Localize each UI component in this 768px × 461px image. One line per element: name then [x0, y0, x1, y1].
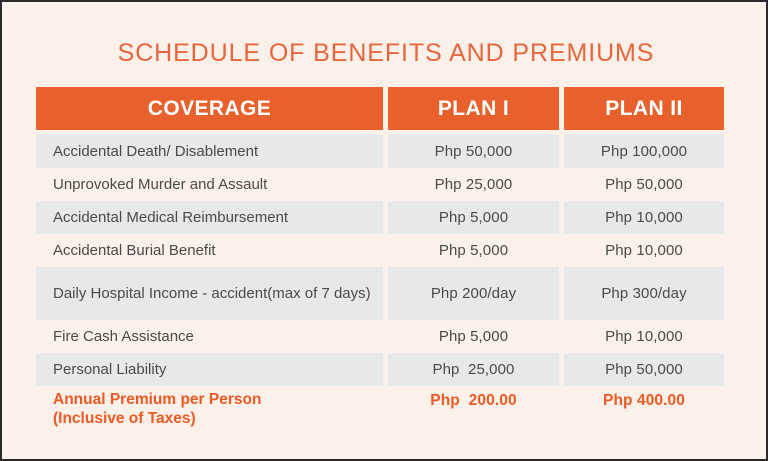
table-row: Fire Cash Assistance Php 5,000 Php 10,00…: [36, 320, 724, 353]
cell-plan-2: Php 10,000: [564, 234, 724, 267]
cell-coverage-line-2: (max of 7 days): [267, 284, 370, 303]
cell-coverage: Accidental Medical Reimbursement: [36, 201, 383, 234]
table-row: Accidental Burial Benefit Php 5,000 Php …: [36, 234, 724, 267]
cell-plan-1: Php 5,000: [388, 320, 559, 353]
table-row: Accidental Medical Reimbursement Php 5,0…: [36, 201, 724, 234]
table-row: Daily Hospital Income - accident (max of…: [36, 267, 724, 320]
cell-plan-2: Php 10,000: [564, 320, 724, 353]
cell-plan-1: Php 25,000: [388, 353, 559, 386]
benefits-schedule-page: SCHEDULE OF BENEFITS AND PREMIUMS COVERA…: [0, 0, 768, 461]
cell-plan-2: Php 300/day: [564, 267, 724, 320]
premium-label-line-1: Annual Premium per Person: [53, 390, 261, 409]
column-header-plan-2: PLAN II: [564, 87, 724, 130]
cell-coverage: Personal Liability: [36, 353, 383, 386]
column-header-coverage: COVERAGE: [36, 87, 383, 130]
cell-premium-plan-1: Php 200.00: [388, 386, 559, 434]
cell-coverage: Accidental Death/ Disablement: [36, 135, 383, 168]
column-header-plan-1: PLAN I: [388, 87, 559, 130]
page-title: SCHEDULE OF BENEFITS AND PREMIUMS: [2, 38, 768, 68]
premium-value-plan-1: Php 200.00: [430, 392, 516, 410]
table-row: Unprovoked Murder and Assault Php 25,000…: [36, 168, 724, 201]
cell-plan-1: Php 25,000: [388, 168, 559, 201]
cell-coverage: Unprovoked Murder and Assault: [36, 168, 383, 201]
cell-plan-1: Php 5,000: [388, 201, 559, 234]
cell-plan-2: Php 10,000: [564, 201, 724, 234]
premium-label-line-2: (Inclusive of Taxes): [53, 409, 261, 428]
cell-premium-plan-2: Php 400.00: [564, 386, 724, 434]
benefits-table: COVERAGE PLAN I PLAN II Accidental Death…: [36, 87, 724, 434]
cell-plan-2: Php 100,000: [564, 135, 724, 168]
table-header-row: COVERAGE PLAN I PLAN II: [36, 87, 724, 130]
table-row: Accidental Death/ Disablement Php 50,000…: [36, 135, 724, 168]
cell-coverage-line-1: Daily Hospital Income - accident: [53, 284, 267, 303]
cell-plan-2: Php 50,000: [564, 168, 724, 201]
cell-coverage: Fire Cash Assistance: [36, 320, 383, 353]
table-row: Personal Liability Php 25,000 Php 50,000: [36, 353, 724, 386]
table-footer-row: Annual Premium per Person (Inclusive of …: [36, 386, 724, 434]
cell-plan-1: Php 50,000: [388, 135, 559, 168]
cell-plan-1: Php 5,000: [388, 234, 559, 267]
cell-coverage: Accidental Burial Benefit: [36, 234, 383, 267]
premium-value-plan-2: Php 400.00: [603, 392, 685, 410]
cell-plan-1: Php 200/day: [388, 267, 559, 320]
cell-coverage: Daily Hospital Income - accident (max of…: [36, 267, 383, 320]
cell-plan-2: Php 50,000: [564, 353, 724, 386]
cell-premium-label: Annual Premium per Person (Inclusive of …: [36, 386, 383, 434]
